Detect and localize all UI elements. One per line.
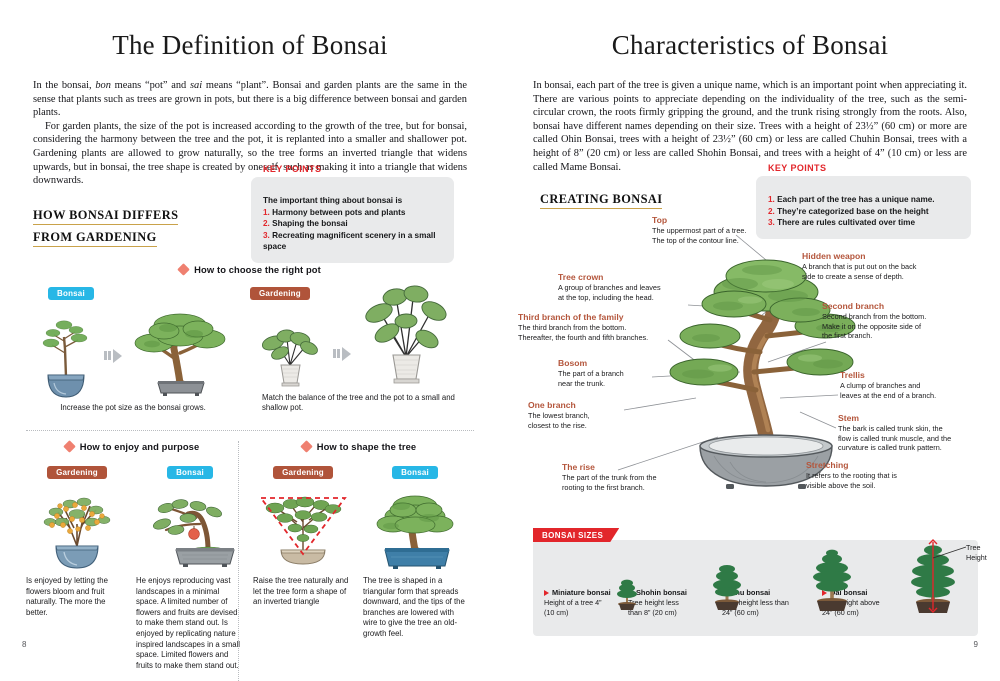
annotation-label: Stem (838, 413, 988, 424)
panel-1-left-caption: Increase the pot size as the bonsai grow… (26, 403, 240, 414)
annotation-desc: visible above the soil. (806, 481, 946, 491)
annotation-stretching: Stretching It refers to the rooting that… (806, 460, 946, 490)
annotation-one-branch: One branch The lowest branch, closest to… (528, 400, 638, 430)
annotation-desc: Thereafter, the fourth and fifth branche… (518, 333, 668, 343)
annotation-desc: the first branch. (822, 331, 972, 341)
intro-frag-2: means “pot” and (111, 80, 190, 91)
panel-2: How to enjoy and purpose Gardening (0, 441, 238, 681)
kp-num: 2. (263, 219, 270, 228)
panels-bottom-row: How to enjoy and purpose Gardening (0, 441, 500, 681)
annotation-desc: A clump of branches and (840, 381, 980, 391)
annotation-third-branch: Third branch of the family The third bra… (518, 312, 668, 342)
annotation-desc: It refers to the rooting that is (806, 471, 946, 481)
annotation-label: Hidden weapon (802, 251, 962, 262)
panel-3-left: Gardening (253, 462, 353, 640)
kp-num: 3. (263, 231, 270, 240)
large-bonsai-in-shallow-pot-illustration (128, 303, 232, 399)
size-item-miniature: Miniature bonsai Height of a tree 4” (10… (544, 588, 616, 617)
panel-3-right: Bonsai (363, 462, 467, 640)
panel-2-subtitle: How to enjoy and purpose (80, 441, 200, 452)
annotation-desc: closest to the rise. (528, 421, 638, 431)
annotation-label: Tree crown (558, 272, 688, 283)
left-key-point-item: 3. Recreating magnificent scenery in a s… (263, 230, 442, 253)
annotation-second-branch: Second branch Second branch from the bot… (822, 301, 972, 341)
panel-3-right-caption: The tree is shaped in a triangular form … (363, 576, 467, 640)
diamond-bullet-icon (63, 440, 76, 453)
arrow-right-icon (104, 349, 122, 363)
annotation-desc: The part of the trunk from the (562, 473, 702, 483)
annotation-desc: side to create a sense of depth. (802, 272, 962, 282)
annotation-stem: Stem The bark is called trunk skin, the … (838, 413, 988, 453)
tree-height-label: Tree Height (966, 543, 987, 562)
right-page-number: 9 (974, 640, 978, 649)
annotation-trellis: Trellis A clump of branches and leaves a… (840, 370, 980, 400)
intro-p1: In the bonsai, bon means “pot” and sai m… (33, 80, 467, 118)
kp-text: Recreating magnificent scenery in a smal… (263, 231, 435, 252)
annotation-desc: Second branch from the bottom. (822, 312, 972, 322)
annotation-desc: Make it on the opposite side of (822, 322, 972, 332)
panel-1-right-caption: Match the balance of the tree and the po… (240, 393, 468, 414)
fruit-tree-in-pot-illustration (26, 484, 128, 572)
badge-gardening: Gardening (47, 466, 107, 480)
triangular-bonsai-illustration (363, 484, 467, 572)
panel-2-left: Gardening (26, 462, 128, 671)
right-page: Characteristics of Bonsai In bonsai, eac… (500, 0, 1000, 667)
annotation-desc: flow is called trunk muscle, and the (838, 434, 988, 444)
annotation-label: Stretching (806, 460, 946, 471)
panel-1-subtitle: How to choose the right pot (194, 264, 321, 275)
arrow-right-icon (333, 347, 351, 361)
annotation-top: Top The uppermost part of a tree. The to… (652, 215, 782, 245)
panel-3: How to shape the tree Gardening (239, 441, 477, 681)
left-key-point-item: 1. Harmony between pots and plants (263, 207, 442, 219)
large-potted-plant-illustration (357, 281, 455, 391)
badge-bonsai: Bonsai (392, 466, 438, 480)
panel-1-right-illustration (240, 291, 468, 391)
bonsai-with-single-fruit-illustration (136, 484, 244, 572)
panel-3-subtitle: How to shape the tree (317, 441, 417, 452)
annotation-desc: A branch that is put out on the back (802, 262, 962, 272)
badge-gardening: Gardening (250, 287, 310, 301)
left-key-points-box: KEY POINTS The important thing about bon… (251, 177, 454, 263)
annotation-label: Bosom (558, 358, 668, 369)
badge-bonsai: Bonsai (48, 287, 94, 301)
diamond-bullet-icon (300, 440, 313, 453)
intro-italic-bon: bon (95, 80, 111, 91)
size-desc: Height of a tree 4” (544, 598, 616, 608)
panel-1-subtitle-row: How to choose the right pot (0, 264, 500, 275)
panel-2-subtitle-row: How to enjoy and purpose (26, 441, 238, 452)
panel-3-columns: Gardening (253, 462, 465, 640)
left-key-points-lead: The important thing about bonsai is (263, 195, 442, 207)
panel-1-left: Bonsai (0, 283, 240, 414)
bonsai-sizes-banner: BONSAI SIZES (533, 528, 619, 542)
intro-frag-1: In the bonsai, (33, 80, 95, 91)
section-heading-line-1: HOW BONSAI DIFFERS (33, 208, 178, 225)
annotation-label: Trellis (840, 370, 980, 381)
annotation-label: Second branch (822, 301, 972, 312)
left-intro: In the bonsai, bon means “pot” and sai m… (33, 79, 467, 188)
annotation-desc: The uppermost part of a tree. (652, 226, 782, 236)
small-bonsai-in-deep-pot-illustration (34, 305, 98, 399)
section-heading-line-2: FROM GARDENING (33, 230, 157, 247)
panel-3-subtitle-row: How to shape the tree (253, 441, 465, 452)
annotation-desc: The part of a branch (558, 369, 668, 379)
panel-2-left-caption: Is enjoyed by letting the flowers bloom … (26, 576, 128, 618)
annotation-desc: The lowest branch, (528, 411, 638, 421)
left-page: The Definition of Bonsai In the bonsai, … (0, 0, 500, 667)
annotation-label: One branch (528, 400, 638, 411)
annotation-desc: rooting to the first branch. (562, 483, 702, 493)
intro-italic-sai: sai (190, 80, 202, 91)
book-spread: The Definition of Bonsai In the bonsai, … (0, 0, 1000, 667)
left-key-point-item: 2. Shaping the bonsai (263, 218, 442, 230)
panel-2-columns: Gardening (26, 462, 238, 671)
annotation-desc: at the top, including the head. (558, 293, 688, 303)
tree-height-line-2: Height (966, 553, 987, 563)
kp-text: Harmony between pots and plants (272, 208, 405, 217)
chu-bonsai-illustration (806, 545, 858, 617)
annotation-desc: The bark is called trunk skin, the (838, 424, 988, 434)
annotation-tree-crown: Tree crown A group of branches and leave… (558, 272, 688, 302)
panel-1-body: Bonsai (0, 283, 500, 414)
annotation-label: The rise (562, 462, 702, 473)
annotation-desc: curvature is called trunk pattern. (838, 443, 988, 453)
small-potted-plant-illustration (253, 313, 327, 391)
size-label: Miniature bonsai (544, 588, 616, 598)
badge-bonsai: Bonsai (167, 466, 213, 480)
panel-divider-horizontal (26, 430, 474, 431)
annotation-label: Top (652, 215, 782, 226)
panel-1-right: Gardening (240, 283, 484, 414)
size-desc: (10 cm) (544, 608, 616, 618)
kp-text: Shaping the bonsai (272, 219, 348, 228)
annotation-desc: The third branch from the bottom. (518, 323, 668, 333)
annotation-desc: near the trunk. (558, 379, 668, 389)
annotation-desc: A group of branches and leaves (558, 283, 688, 293)
annotation-bosom: Bosom The part of a branch near the trun… (558, 358, 668, 388)
badge-gardening: Gardening (273, 466, 333, 480)
red-triangle-icon (544, 590, 549, 596)
kp-num: 1. (263, 208, 270, 217)
inverted-triangle-tree-illustration (253, 484, 353, 572)
annotation-the-rise: The rise The part of the trunk from the … (562, 462, 702, 492)
left-key-points-title: KEY POINTS (263, 164, 321, 174)
panel-2-right-caption: He enjoys reproducing vast landscapes in… (136, 576, 244, 671)
panel-1-left-illustration (26, 303, 240, 399)
left-page-number: 8 (22, 640, 26, 649)
annotation-label: Third branch of the family (518, 312, 668, 323)
left-page-title: The Definition of Bonsai (0, 0, 500, 61)
panel-3-left-caption: Raise the tree naturally and let the tre… (253, 576, 353, 608)
miniature-bonsai-illustration (612, 572, 642, 614)
panel-2-right: Bonsai (136, 462, 244, 671)
diamond-bullet-icon (177, 263, 190, 276)
annotation-desc: leaves at the end of a branch. (840, 391, 980, 401)
annotation-desc: The top of the contour line. (652, 236, 782, 246)
annotation-hidden-weapon: Hidden weapon A branch that is put out o… (802, 251, 962, 281)
tree-height-line-1: Tree (966, 543, 987, 553)
shohin-bonsai-illustration (706, 558, 748, 616)
